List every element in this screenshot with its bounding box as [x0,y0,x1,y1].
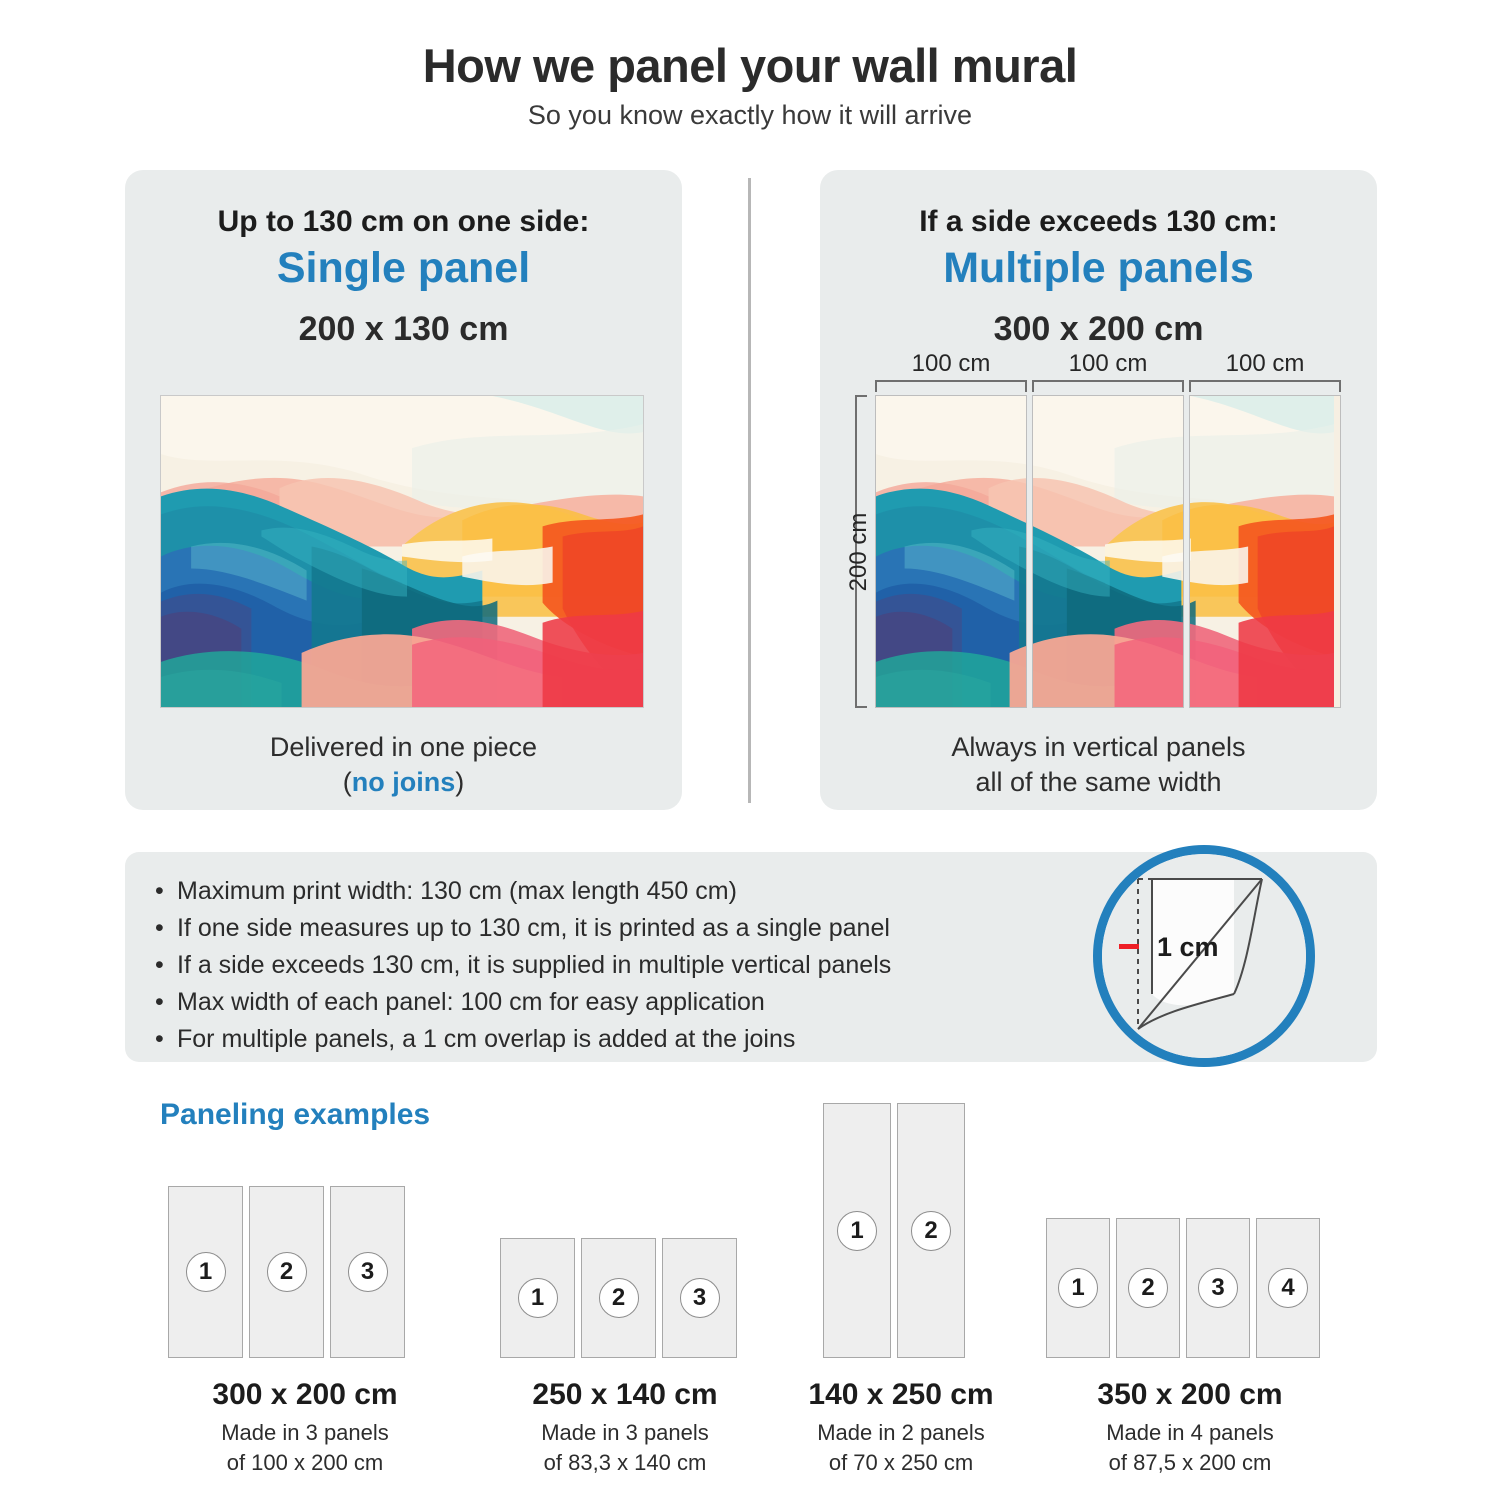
example-made-line1: Made in 4 panels [1005,1418,1375,1448]
paneling-example-4-caption: 350 x 200 cm Made in 4 panels of 87,5 x … [1005,1378,1375,1477]
single-panel-footer-line2: (no joins) [125,765,682,800]
panel-width-bracket-3: 100 cm [1189,380,1341,392]
list-item: • Maximum print width: 130 cm (max lengt… [155,874,891,908]
specifications-list: • Maximum print width: 130 cm (max lengt… [155,874,891,1059]
panel-number: 3 [680,1278,720,1318]
overlap-red-marker [1119,944,1139,949]
panel-block: 1 [500,1238,575,1358]
bullet-icon: • [155,874,177,908]
multiple-panels-footer-line2: all of the same width [820,765,1377,800]
panel-number: 2 [267,1252,307,1292]
panel-block: 3 [330,1186,405,1358]
bullet-icon: • [155,985,177,1019]
paneling-example-1-caption: 300 x 200 cm Made in 3 panels of 100 x 2… [120,1378,490,1477]
mural-panel-2-art [1032,396,1184,707]
paren-open: ( [343,767,352,797]
panel-number: 1 [1058,1268,1098,1308]
panel-block: 3 [662,1238,737,1358]
list-item-text: For multiple panels, a 1 cm overlap is a… [177,1022,795,1056]
example-size: 350 x 200 cm [1005,1378,1375,1412]
paneling-example-1-panels: 1 2 3 [168,1186,405,1358]
list-item: • If one side measures up to 130 cm, it … [155,911,891,945]
paneling-examples-title: Paneling examples [160,1098,430,1132]
example-made-line2: of 100 x 200 cm [120,1448,490,1478]
panel-width-label-3: 100 cm [1191,350,1339,378]
mural-panel-2 [1032,395,1184,708]
panel-height-bracket: 200 cm [855,395,867,708]
list-item-text: If one side measures up to 130 cm, it is… [177,911,890,945]
panel-width-label-2: 100 cm [1034,350,1182,378]
list-item: • Max width of each panel: 100 cm for ea… [155,985,891,1019]
list-item: • If a side exceeds 130 cm, it is suppli… [155,948,891,982]
infographic-page: How we panel your wall mural So you know… [0,0,1500,1500]
multiple-panels-condition: If a side exceeds 130 cm: [820,205,1377,239]
panel-block: 2 [897,1103,965,1358]
panel-block: 2 [581,1238,656,1358]
multiple-panels-result: Multiple panels [820,244,1377,293]
single-panel-size: 200 x 130 cm [125,310,682,349]
single-panel-result: Single panel [125,244,682,293]
paneling-example-2-panels: 1 2 3 [500,1238,737,1358]
multiple-panels-size: 300 x 200 cm [820,310,1377,349]
panel-number: 2 [599,1278,639,1318]
mural-panel-1 [875,395,1027,708]
multiple-panels-footer-line1: Always in vertical panels [820,730,1377,765]
panel-number: 4 [1268,1268,1308,1308]
bullet-icon: • [155,948,177,982]
page-subtitle: So you know exactly how it will arrive [0,100,1500,131]
paren-close: ) [455,767,464,797]
overlap-measure-label: 1 cm [1157,932,1219,963]
panel-block: 1 [1046,1218,1110,1358]
panel-block: 1 [168,1186,243,1358]
multiple-panels-card: If a side exceeds 130 cm: Multiple panel… [820,170,1377,810]
panel-number: 2 [911,1211,951,1251]
panel-width-label-1: 100 cm [877,350,1025,378]
bullet-icon: • [155,1022,177,1056]
mural-panel-3-art [1189,396,1334,707]
panel-block: 4 [1256,1218,1320,1358]
panel-block: 2 [1116,1218,1180,1358]
multiple-panels-footer: Always in vertical panels all of the sam… [820,730,1377,799]
panel-width-bracket-1: 100 cm [875,380,1027,392]
panel-height-label: 200 cm [845,402,873,702]
single-panel-footer-line1: Delivered in one piece [125,730,682,765]
single-panel-footer: Delivered in one piece (no joins) [125,730,682,799]
no-joins-text: no joins [352,767,456,797]
panel-number: 2 [1128,1268,1168,1308]
mural-panel-3 [1189,395,1341,708]
single-panel-card: Up to 130 cm on one side: Single panel 2… [125,170,682,810]
list-item: • For multiple panels, a 1 cm overlap is… [155,1022,891,1056]
panel-width-bracket-2: 100 cm [1032,380,1184,392]
card-divider [748,178,751,803]
panel-number: 1 [518,1278,558,1318]
panel-number: 3 [1198,1268,1238,1308]
paneling-example-3-panels: 1 2 [823,1103,965,1358]
list-item-text: If a side exceeds 130 cm, it is supplied… [177,948,891,982]
page-title: How we panel your wall mural [0,38,1500,93]
panel-block: 1 [823,1103,891,1358]
single-panel-condition: Up to 130 cm on one side: [125,205,682,239]
panel-block: 2 [249,1186,324,1358]
example-made-line2: of 87,5 x 200 cm [1005,1448,1375,1478]
panel-number: 1 [186,1252,226,1292]
panel-block: 3 [1186,1218,1250,1358]
panel-number: 1 [837,1211,877,1251]
list-item-text: Maximum print width: 130 cm (max length … [177,874,737,908]
example-size: 300 x 200 cm [120,1378,490,1412]
list-item-text: Max width of each panel: 100 cm for easy… [177,985,765,1019]
mural-panel-1-art [876,396,1027,707]
bullet-icon: • [155,911,177,945]
panel-number: 3 [348,1252,388,1292]
example-made-line1: Made in 3 panels [120,1418,490,1448]
overlap-detail-circle: 1 cm [1093,845,1315,1067]
paneling-example-4-panels: 1 2 3 4 [1046,1218,1320,1358]
mural-artwork-single [160,395,644,708]
